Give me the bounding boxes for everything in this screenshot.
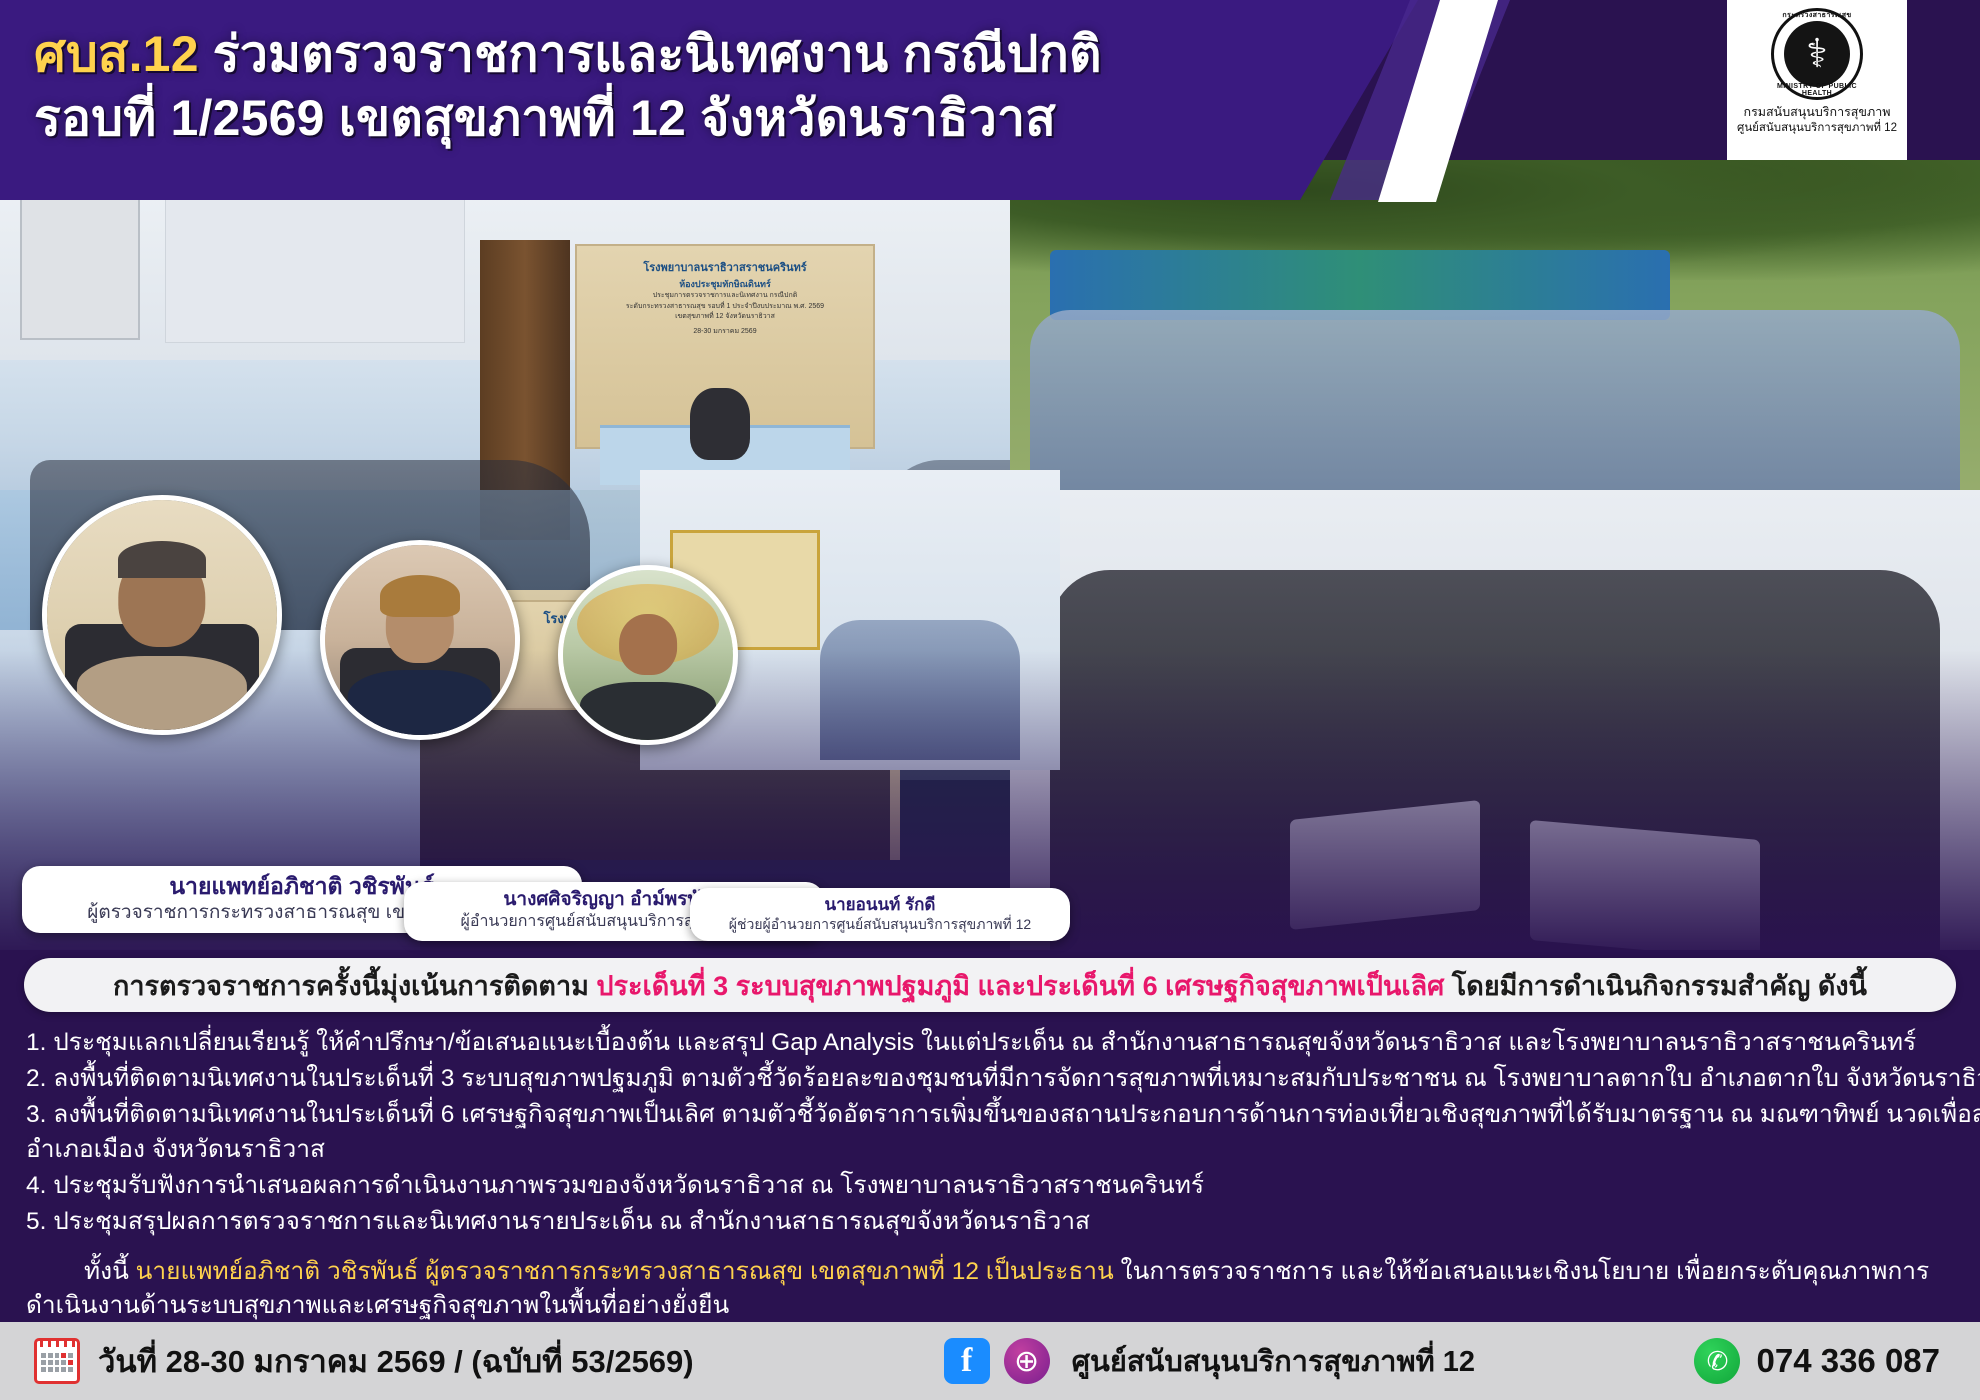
logo-caption: กรมสนับสนุนบริการสุขภาพ ศูนย์สนับสนุนบริ… [1737, 104, 1897, 136]
highlight-topics: ประเด็นที่ 3 ระบบสุขภาพปฐมภูมิ และประเด็… [596, 971, 1444, 1001]
calendar-rings [37, 1338, 77, 1347]
body-closing-paragraph: ทั้งนี้ นายแพทย์อภิชาติ วชิรพันธ์ ผู้ตรว… [26, 1255, 1956, 1323]
logo-caption-line1: กรมสนับสนุนบริการสุขภาพ [1737, 104, 1897, 121]
logo-ring-top-text: กระทรวงสาธารณสุข [1774, 10, 1860, 21]
closing-prefix: ทั้งนี้ [84, 1258, 136, 1285]
highlight-banner: การตรวจราชการครั้งนี้มุ่งเน้นการติดตาม ป… [24, 958, 1956, 1012]
laptop-1 [1290, 800, 1480, 930]
portrait-2-body [348, 670, 492, 735]
portrait-photo-2 [320, 540, 520, 740]
caduceus-icon: ⚕ [1806, 34, 1828, 74]
body-item-3: 3. ลงพื้นที่ติดตามนิเทศงานในประเด็นที่ 6… [26, 1098, 1956, 1132]
portrait-3-body [580, 682, 716, 740]
ministry-of-public-health-icon: กระทรวงสาธารณสุข ⚕ MINISTRY OF PUBLIC HE… [1771, 8, 1863, 100]
portrait-3-head [619, 614, 677, 675]
photo-collage: โรงพยาบาลนราธิวาสราชนครินทร์ ห้องประชุมท… [0, 160, 1980, 950]
portrait-3-name: นายอนนท์ รักดี [706, 894, 1054, 915]
phone-icon: ✆ [1694, 1338, 1740, 1384]
body-item-5: 5. ประชุมสรุปผลการตรวจราชการและนิเทศงานร… [26, 1205, 1956, 1239]
backdrop-sub5: 28-30 มกราคม 2569 [585, 327, 865, 338]
footer-social-group[interactable]: f ⊕ [944, 1338, 1050, 1384]
ministry-logo-box: กระทรวงสาธารณสุข ⚕ MINISTRY OF PUBLIC HE… [1727, 0, 1907, 160]
backdrop-sub3: ระดับกระทรวงสาธารณสุข รอบที่ 1 ประจำปีงบ… [585, 302, 865, 313]
highlight-part1: การตรวจราชการครั้งนี้มุ่งเน้นการติดตาม [113, 971, 596, 1001]
highlight-text: การตรวจราชการครั้งนี้มุ่งเน้นการติดตาม ป… [113, 964, 1867, 1007]
backdrop-sub1: ห้องประชุมทักษิณดินทร์ [585, 278, 865, 292]
backdrop-sub4: เขตสุขภาพที่ 12 จังหวัดนราธิวาส [585, 312, 865, 323]
calendar-grid [41, 1353, 73, 1377]
name-card-3: นายอนนท์ รักดี ผู้ช่วยผู้อำนวยการศูนย์สน… [690, 888, 1070, 941]
backdrop-title: โรงพยาบาลนราธิวาสราชนครินทร์ [585, 260, 865, 277]
backdrop-text-block: โรงพยาบาลนราธิวาสราชนครินทร์ ห้องประชุมท… [585, 260, 865, 337]
calendar-icon [34, 1338, 80, 1384]
office-staff-row [1050, 570, 1940, 950]
backdrop-sub2: ประชุมการตรวจราชการและนิเทศงาน กรณีปกติ [585, 291, 865, 302]
footer-date-text: วันที่ 28-30 มกราคม 2569 / (ฉบับที่ 53/2… [98, 1336, 694, 1386]
highlight-part3: โดยมีการดำเนินกิจกรรมสำคัญ ดังนี้ [1444, 971, 1867, 1001]
photo-group-thumbsup [1010, 160, 1980, 500]
title-org-code: ศบส.12 [34, 26, 199, 82]
footer-phone-number: 074 336 087 [1756, 1342, 1940, 1380]
facebook-icon[interactable]: f [944, 1338, 990, 1384]
portrait-photo-3 [558, 565, 738, 745]
page-title-line1: ศบส.12 ร่วมตรวจราชการและนิเทศงาน กรณีปกต… [34, 22, 1334, 86]
body-content: 1. ประชุมแลกเปลี่ยนเรียนรู้ ให้คำปรึกษา/… [26, 1026, 1956, 1324]
footer-org-name: ศูนย์สนับสนุนบริการสุขภาพที่ 12 [1072, 1338, 1475, 1384]
room-door [20, 180, 140, 340]
footer-phone-group: ✆ 074 336 087 [1694, 1338, 1940, 1384]
laptop-2 [1530, 820, 1760, 950]
body-item-3-continued: อำเภอเมือง จังหวัดนราธิวาส [26, 1133, 1956, 1167]
title-line1-rest: ร่วมตรวจราชการและนิเทศงาน กรณีปกติ [199, 26, 1102, 82]
page-title-line2: รอบที่ 1/2569 เขตสุขภาพที่ 12 จังหวัดนรา… [34, 86, 1334, 150]
portrait-1-body [77, 656, 247, 730]
body-item-2: 2. ลงพื้นที่ติดตามนิเทศงานในประเด็นที่ 3… [26, 1062, 1956, 1096]
portrait-3-position: ผู้ช่วยผู้อำนวยการศูนย์สนับสนุนบริการสุข… [706, 915, 1054, 933]
closing-chairperson: นายแพทย์อภิชาติ วชิรพันธ์ ผู้ตรวจราชการก… [136, 1258, 1114, 1285]
body-item-1: 1. ประชุมแลกเปลี่ยนเรียนรู้ ให้คำปรึกษา/… [26, 1026, 1956, 1060]
room-panel [165, 178, 465, 343]
poster-root: โรงพยาบาลนราธิวาสราชนครินทร์ ห้องประชุมท… [0, 0, 1980, 1400]
footer-date-group: วันที่ 28-30 มกราคม 2569 / (ฉบับที่ 53/2… [34, 1336, 694, 1386]
portrait-photo-1 [42, 495, 282, 735]
logo-ring-bottom-text: MINISTRY OF PUBLIC HEALTH [1774, 83, 1860, 97]
globe-icon[interactable]: ⊕ [1004, 1338, 1050, 1384]
photo-office-staff [1010, 490, 1980, 950]
header-text-block: ศบส.12 ร่วมตรวจราชการและนิเทศงาน กรณีปกต… [34, 22, 1334, 150]
clinic-staff [820, 620, 1020, 760]
chairperson-figure [690, 388, 750, 460]
group-people-row [1030, 310, 1960, 500]
body-item-4: 4. ประชุมรับฟังการนำเสนอผลการดำเนินงานภา… [26, 1169, 1956, 1203]
logo-caption-line2: ศูนย์สนับสนุนบริการสุขภาพที่ 12 [1737, 121, 1897, 136]
portrait-2-hair [380, 575, 460, 617]
portrait-1-hair [118, 541, 205, 578]
footer-bar: วันที่ 28-30 มกราคม 2569 / (ฉบับที่ 53/2… [0, 1322, 1980, 1400]
